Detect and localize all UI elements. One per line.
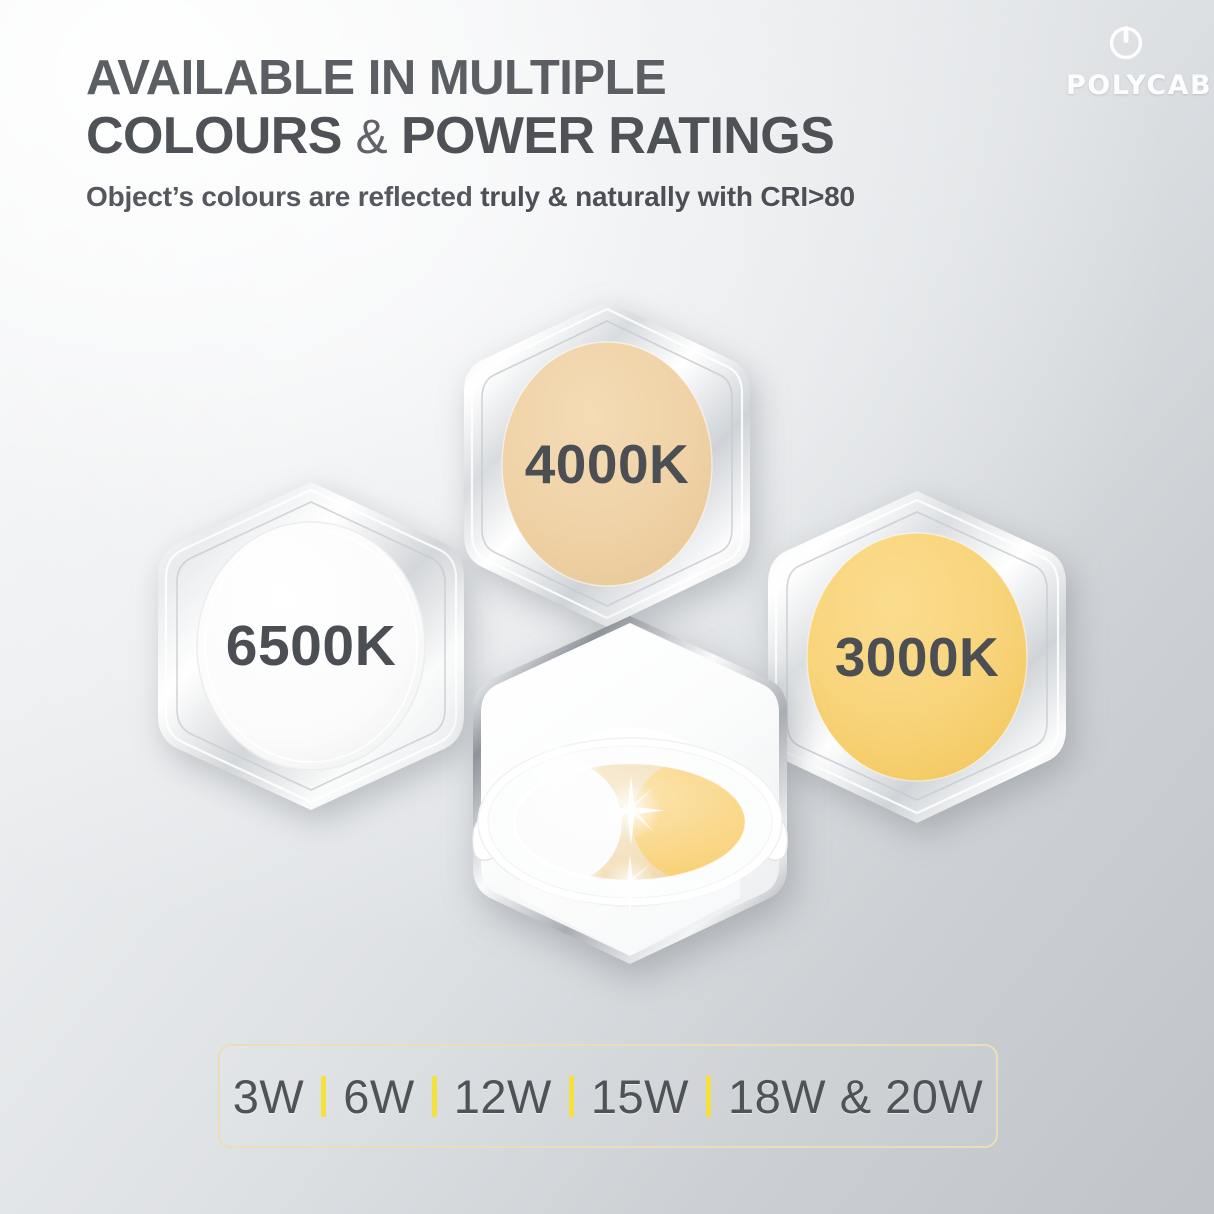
wattage-separator [432,1076,437,1117]
headline-line-2: COLOURS & POWER RATINGS [86,107,1046,167]
subtitle-bold: truly & naturally with CRI>80 [480,181,855,212]
headline-ampersand: & [356,111,387,164]
headline-line-1: AVAILABLE IN MULTIPLE [86,52,1046,105]
wattage-item-15w: 15W [591,1069,689,1124]
wattage-separator [706,1076,711,1117]
headline-power-ratings: POWER RATINGS [401,107,834,165]
subtitle-normal: Object’s colours are reflected [86,181,480,212]
wattage-item-6w: 6W [343,1069,415,1124]
brand-wordmark: POLYCAB [1066,70,1212,101]
wattage-item-3w: 3W [233,1069,305,1124]
wattage-options-box: 3W 6W 12W 15W 18W & 20W [218,1044,998,1148]
colour-tile-4000k[interactable]: 4000K [454,296,760,632]
product-led-panel[interactable] [440,608,820,998]
wattage-separator [569,1076,574,1117]
poster-canvas: AVAILABLE IN MULTIPLE COLOURS & POWER RA… [0,0,1214,1214]
colour-tile-6500k[interactable]: 6500K [146,476,476,816]
header-block: AVAILABLE IN MULTIPLE COLOURS & POWER RA… [86,52,1046,214]
wattage-list: 3W 6W 12W 15W 18W & 20W [233,1069,984,1124]
wattage-item-18w-20w: 18W & 20W [728,1069,983,1124]
wattage-separator [321,1076,326,1117]
subtitle: Object’s colours are reflected truly & n… [86,180,1046,214]
wattage-item-12w: 12W [454,1069,552,1124]
power-button-icon [1066,22,1186,67]
headline-colours: COLOURS [86,107,342,165]
brand-logo: POLYCAB [1066,22,1186,99]
